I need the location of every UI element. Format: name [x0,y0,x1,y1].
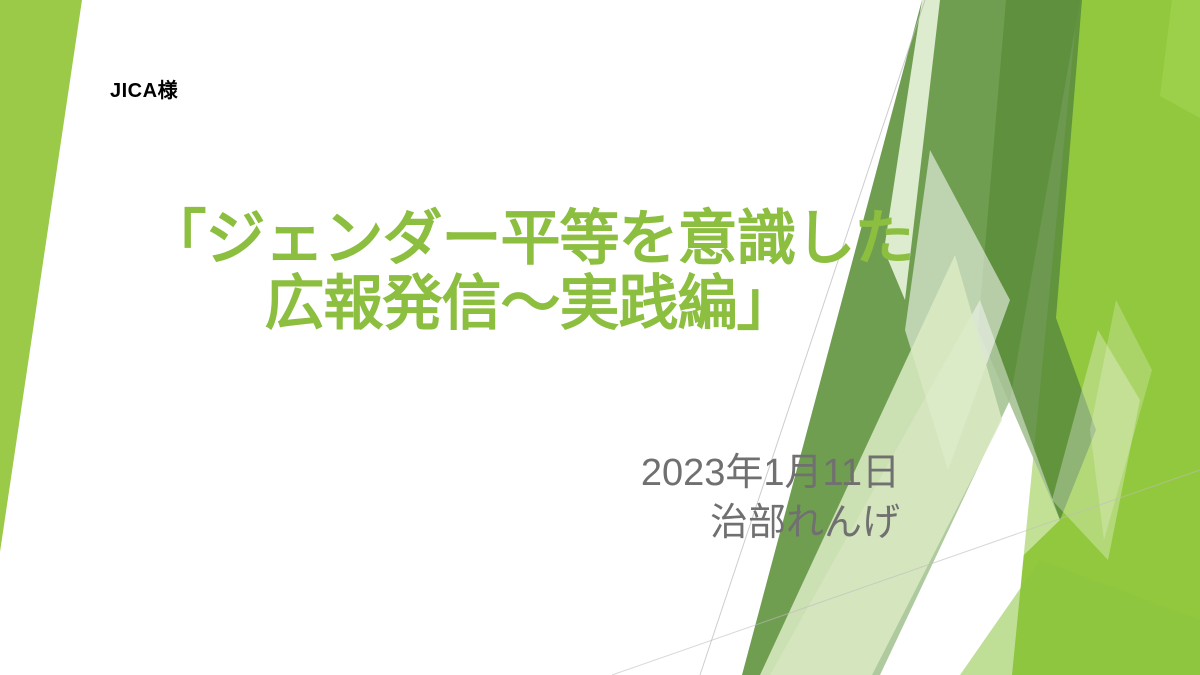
slide-title: 「ジェンダー平等を意識した 広報発信～実践編」 [90,206,970,337]
presentation-slide: JICA様 「ジェンダー平等を意識した 広報発信～実践編」 2023年1月11日… [0,0,1200,675]
subtitle-date: 2023年1月11日 [200,448,900,498]
title-line-1: 「ジェンダー平等を意識した [90,206,970,271]
client-label: JICA様 [110,74,178,103]
slide-subtitle: 2023年1月11日 治部れんげ [200,448,900,548]
subtitle-presenter-name: 治部れんげ [200,498,900,548]
slide-text-layer: JICA様 「ジェンダー平等を意識した 広報発信～実践編」 2023年1月11日… [0,0,1200,675]
title-line-2: 広報発信～実践編」 [90,271,970,336]
